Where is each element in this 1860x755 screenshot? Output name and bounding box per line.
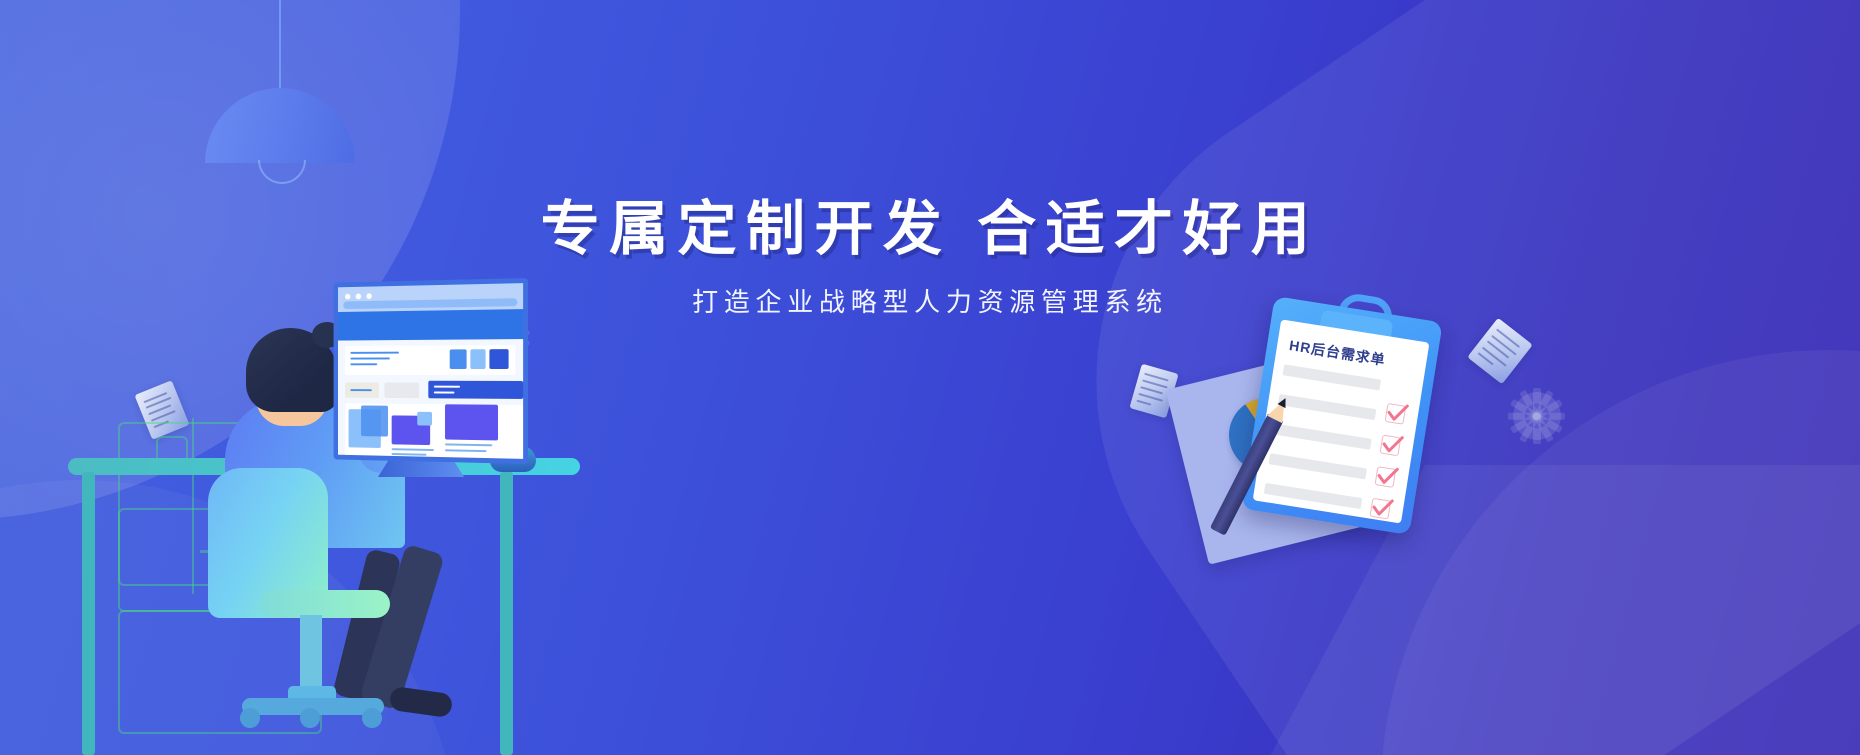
desk-leg-right [500, 472, 513, 755]
checkbox-checked[interactable] [1370, 498, 1392, 520]
toolbar-chip-3-line-2 [434, 391, 455, 393]
wireframe-outline-3 [118, 610, 322, 734]
header-swatch-1 [450, 349, 467, 369]
content-image-5 [445, 404, 498, 440]
toolbar-chip-2 [384, 383, 419, 399]
pendant-lamp-icon [205, 0, 355, 185]
wireframe-outline-6 [192, 418, 194, 594]
header-swatch-2 [470, 349, 485, 369]
lamp-shade [205, 88, 355, 163]
designer-at-desk-illustration [60, 250, 680, 755]
checkbox-checked[interactable] [1380, 435, 1402, 457]
lamp-cord [279, 0, 281, 90]
page-title: 专属定制开发 合适才好用 [0, 196, 1860, 262]
hero-banner: 专属定制开发 合适才好用 打造企业战略型人力资源管理系统 [0, 0, 1860, 755]
checklist-row-bar [1283, 364, 1382, 390]
header-line-2 [350, 357, 389, 359]
checklist-row-bar [1278, 394, 1377, 420]
header-line-1 [350, 352, 399, 354]
checkbox-checked[interactable] [1375, 466, 1397, 488]
hero-copy: 专属定制开发 合适才好用 打造企业战略型人力资源管理系统 [0, 196, 1860, 319]
chair-stem [300, 615, 322, 691]
person-shoe [389, 686, 454, 718]
toolbar-chip-1-line [350, 389, 371, 391]
checklist-row-bar [1273, 424, 1372, 450]
page-subtitle: 打造企业战略型人力资源管理系统 [0, 282, 1860, 319]
desk-leg-left [82, 472, 95, 755]
chair-seat [260, 590, 390, 618]
gear-icon-right [1513, 392, 1561, 440]
header-swatch-3 [489, 349, 508, 369]
toolbar-chip-3-line-1 [434, 386, 460, 388]
content-image-4 [417, 412, 432, 426]
content-image-2 [361, 405, 388, 436]
header-line-3 [350, 363, 377, 365]
toolbar-chip-3 [428, 381, 523, 399]
chair-caster-right [362, 708, 382, 728]
chair-caster-center [300, 708, 320, 728]
lamp-bulb [258, 160, 306, 184]
chair-caster-left [240, 708, 260, 728]
checkbox-checked[interactable] [1385, 403, 1407, 425]
checklist-row-bar [1268, 453, 1367, 479]
hr-requirements-clipboard-illustration: HR后台需求单 [1185, 290, 1495, 620]
